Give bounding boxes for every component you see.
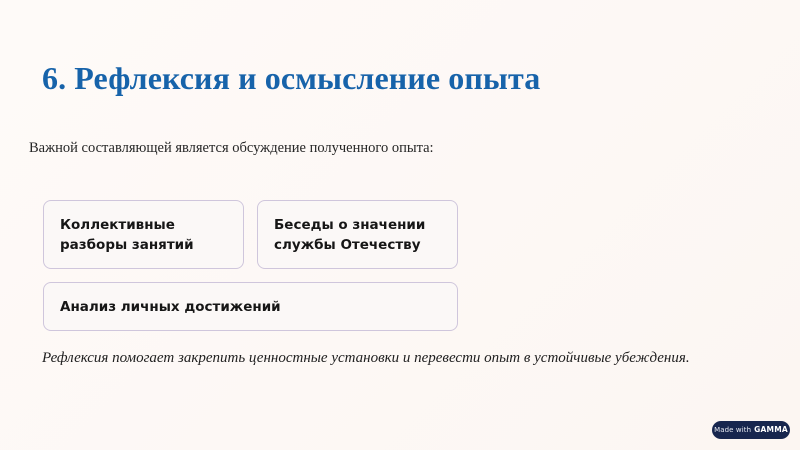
card-collective-reviews[interactable]: Коллективные разборы занятий	[43, 200, 244, 269]
card-label-line: службы Отечеству	[274, 235, 425, 255]
badge-brand-label: GAMMA	[754, 426, 788, 434]
card-talks-service[interactable]: Беседы о значении службы Отечеству	[257, 200, 458, 269]
slide-canvas: 6. Рефлексия и осмысление опыта Важной с…	[0, 0, 800, 450]
card-label-line: Анализ личных достижений	[60, 297, 281, 317]
card-label-line: Коллективные	[60, 215, 194, 235]
page-title: 6. Рефлексия и осмысление опыта	[42, 58, 540, 98]
card-label-line: разборы занятий	[60, 235, 194, 255]
card-label: Анализ личных достижений	[60, 297, 281, 317]
card-label: Беседы о значении службы Отечеству	[274, 215, 425, 255]
made-with-gamma-badge[interactable]: Made with GAMMA	[712, 421, 790, 439]
intro-paragraph: Важной составляющей является обсуждение …	[29, 138, 434, 158]
card-label-line: Беседы о значении	[274, 215, 425, 235]
card-label: Коллективные разборы занятий	[60, 215, 194, 255]
badge-prefix-label: Made with	[714, 426, 751, 434]
card-grid: Коллективные разборы занятий Беседы о зн…	[43, 200, 458, 331]
card-personal-achievements[interactable]: Анализ личных достижений	[43, 282, 458, 331]
footnote-text: Рефлексия помогает закрепить ценностные …	[42, 348, 690, 369]
